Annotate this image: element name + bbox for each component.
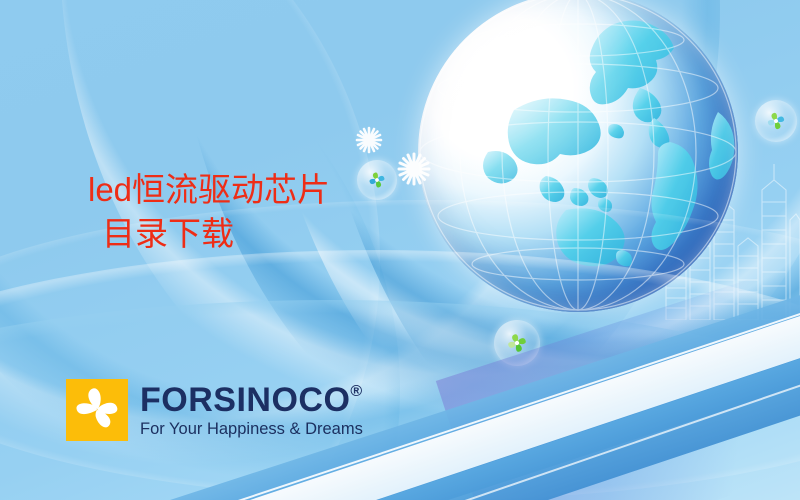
pinwheel-icon xyxy=(764,109,788,133)
registered-trademark-icon: ® xyxy=(350,384,362,400)
company-logo[interactable]: FORSINOCO ® For Your Happiness & Dreams xyxy=(66,379,363,441)
sparkle-star-icon xyxy=(397,152,431,186)
pinwheel-icon xyxy=(366,169,388,191)
bubble-pinwheel-right xyxy=(755,100,797,142)
sparkle-star-icon xyxy=(355,126,383,154)
brand-name-block: FORSINOCO ® xyxy=(140,383,363,417)
headline-line-1: led恒流驱动芯片 xyxy=(88,168,330,212)
headline-block: led恒流驱动芯片 目录下载 xyxy=(88,168,330,255)
logo-text-block: FORSINOCO ® For Your Happiness & Dreams xyxy=(140,383,363,438)
promo-banner: led恒流驱动芯片 目录下载 FORSINOCO ® For Your Happ… xyxy=(0,0,800,500)
brand-name: FORSINOCO xyxy=(140,383,350,417)
logo-mark-icon xyxy=(66,379,128,441)
brand-tagline: For Your Happiness & Dreams xyxy=(140,421,363,438)
headline-line-2: 目录下载 xyxy=(88,212,330,256)
bubble-pinwheel-top xyxy=(357,160,397,200)
flower-pinwheel-icon xyxy=(66,379,128,441)
